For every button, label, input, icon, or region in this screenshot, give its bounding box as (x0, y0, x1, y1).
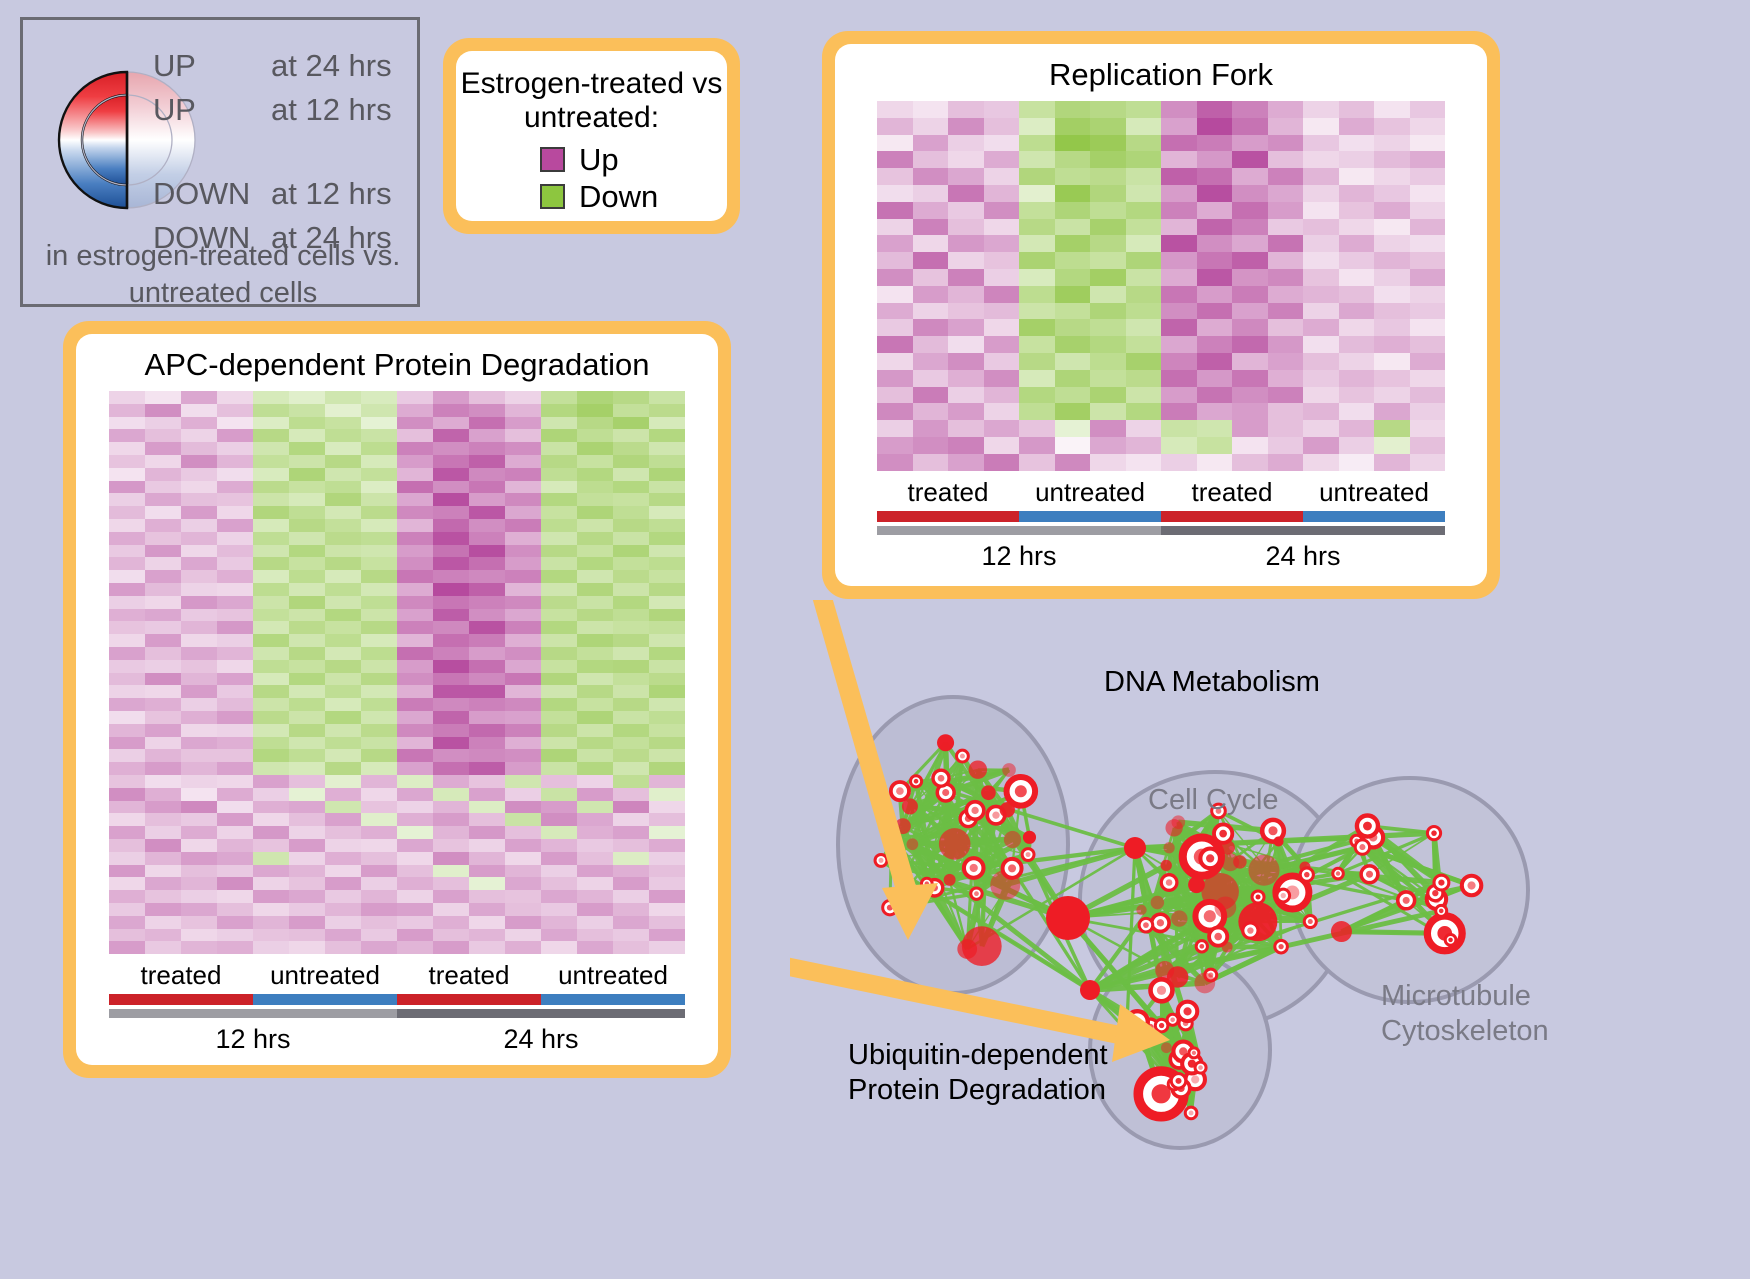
heatmap-cell (433, 865, 469, 878)
heatmap-cell (541, 890, 577, 903)
heatmap-cell (361, 468, 397, 481)
network-node[interactable] (1023, 831, 1036, 844)
heatmap-cell (1268, 286, 1304, 303)
heatmap-cell (397, 596, 433, 609)
heatmap-cell (397, 698, 433, 711)
heatmap-cell (181, 481, 217, 494)
replication-fork-heatmap (877, 101, 1445, 471)
heatmap-cell (289, 391, 325, 404)
heatmap-cell (145, 801, 181, 814)
heatmap-cell (469, 826, 505, 839)
heatmap-cell (469, 583, 505, 596)
heatmap-cell (505, 941, 541, 954)
heatmap-cell (1197, 353, 1233, 370)
network-node[interactable] (1151, 979, 1173, 1001)
heatmap-cell (433, 609, 469, 622)
heatmap-cell (361, 673, 397, 686)
heatmap-cell (1339, 235, 1375, 252)
heatmap-cell (913, 454, 949, 471)
heatmap-cell (1161, 151, 1197, 168)
heatmap-cell (1303, 437, 1339, 454)
heatmap-cell (1197, 219, 1233, 236)
heatmap-cell (109, 711, 145, 724)
heatmap-cell (361, 532, 397, 545)
heatmap-cell (1126, 286, 1162, 303)
heatmap-cell (649, 455, 685, 468)
network-node[interactable] (875, 854, 887, 866)
heatmap-cell (613, 749, 649, 762)
heatmap-cell (325, 545, 361, 558)
heatmap-cell (361, 634, 397, 647)
heatmap-cell (145, 660, 181, 673)
network-node[interactable] (1151, 896, 1164, 909)
treatment-color-bar (877, 511, 1445, 522)
heatmap-cell (253, 647, 289, 660)
heatmap-cell (505, 545, 541, 558)
heatmap-cell (469, 788, 505, 801)
heatmap-cell (577, 788, 613, 801)
heatmap-cell (289, 493, 325, 506)
heatmap-cell (181, 775, 217, 788)
heatmap-cell (397, 852, 433, 865)
heatmap-cell (1055, 353, 1091, 370)
heatmap-cell (325, 404, 361, 417)
network-node[interactable] (1300, 868, 1313, 881)
heatmap-cell (289, 455, 325, 468)
heatmap-cell (1303, 118, 1339, 135)
heatmap-cell (613, 506, 649, 519)
network-node[interactable] (1185, 1107, 1197, 1119)
heatmap-cell (1232, 319, 1268, 336)
heatmap-cell (613, 762, 649, 775)
heatmap-cell (181, 673, 217, 686)
network-node[interactable] (1333, 868, 1344, 879)
heatmap-cell (1232, 185, 1268, 202)
heatmap-cell (361, 417, 397, 430)
colorwheel-label-list: UP at 24 hrs UP at 12 hrs DOWN at 12 hrs… (153, 48, 413, 264)
group-label: untreated (541, 954, 685, 994)
heatmap-cell (469, 775, 505, 788)
heatmap-cell (1019, 118, 1055, 135)
heatmap-cell (1339, 269, 1375, 286)
heatmap-cell (505, 557, 541, 570)
heatmap-cell (649, 545, 685, 558)
heatmap-cell (1055, 101, 1091, 118)
group-label: untreated (253, 954, 397, 994)
heatmap-cell (649, 916, 685, 929)
network-node[interactable] (1136, 905, 1146, 915)
network-node[interactable] (957, 750, 969, 762)
network-node[interactable] (1004, 831, 1021, 848)
heatmap-cell (649, 660, 685, 673)
heatmap-cell (433, 698, 469, 711)
network-node[interactable] (1002, 763, 1016, 777)
heatmap-cell (145, 493, 181, 506)
time-label-row: 12 hrs 24 hrs (109, 1018, 685, 1055)
heatmap-cell (469, 455, 505, 468)
heatmap-cell (1019, 219, 1055, 236)
heatmap-cell (577, 545, 613, 558)
heatmap-cell (145, 903, 181, 916)
heatmap-cell (433, 417, 469, 430)
heatmap-cell (649, 570, 685, 583)
heatmap-cell (541, 941, 577, 954)
heatmap-cell (541, 929, 577, 942)
network-node[interactable] (1434, 875, 1449, 890)
heatmap-cell (469, 839, 505, 852)
heatmap-cell (289, 621, 325, 634)
heatmap-cell (613, 391, 649, 404)
heatmap-cell (1197, 252, 1233, 269)
heatmap-cell (877, 252, 913, 269)
network-node[interactable] (1189, 1048, 1199, 1058)
heatmap-cell (541, 839, 577, 852)
heatmap-cell (361, 775, 397, 788)
heatmap-cell (433, 724, 469, 737)
network-node[interactable] (981, 785, 996, 800)
heatmap-cell (649, 621, 685, 634)
heatmap-cell (253, 391, 289, 404)
network-node[interactable] (1152, 914, 1169, 931)
group-label-row: treated untreated treated untreated (877, 471, 1445, 511)
heatmap-cell (217, 609, 253, 622)
network-node[interactable] (1080, 980, 1100, 1000)
heatmap-cell (181, 557, 217, 570)
heatmap-cell (289, 660, 325, 673)
heatmap-cell (217, 877, 253, 890)
heatmap-cell (1339, 118, 1375, 135)
network-node[interactable] (1275, 940, 1288, 953)
heatmap-cell (433, 711, 469, 724)
heatmap-cell (541, 519, 577, 532)
heatmap-cell (577, 826, 613, 839)
network-node[interactable] (1361, 866, 1378, 883)
heatmap-cell (1232, 135, 1268, 152)
heatmap-cell (361, 916, 397, 929)
heatmap-cell (217, 762, 253, 775)
network-node[interactable] (1171, 1074, 1185, 1088)
network-node[interactable] (1161, 860, 1172, 871)
heatmap-cell (577, 391, 613, 404)
heatmap-cell (253, 916, 289, 929)
network-node[interactable] (1222, 942, 1233, 953)
heatmap-cell (469, 481, 505, 494)
heatmap-cell (325, 698, 361, 711)
network-node[interactable] (1357, 815, 1378, 836)
heatmap-cell (1126, 219, 1162, 236)
network-node[interactable] (939, 828, 971, 860)
network-node[interactable] (1221, 840, 1235, 854)
heatmap-cell (577, 609, 613, 622)
heatmap-cell (217, 685, 253, 698)
heatmap-cell (1090, 286, 1126, 303)
network-node[interactable] (1161, 1042, 1172, 1053)
network-node[interactable] (1355, 840, 1369, 854)
heatmap-cell (181, 890, 217, 903)
heatmap-cell (613, 481, 649, 494)
heatmap-cell (325, 583, 361, 596)
heatmap-cell (505, 647, 541, 660)
network-node[interactable] (1188, 876, 1205, 893)
network-node[interactable] (1427, 916, 1462, 951)
heatmap-cell (1374, 454, 1410, 471)
heatmap-cell (217, 442, 253, 455)
heatmap-cell (1268, 252, 1304, 269)
heatmap-cell (181, 442, 217, 455)
heatmap-cell (433, 519, 469, 532)
heatmap-cell (109, 570, 145, 583)
heatmap-cell (877, 319, 913, 336)
heatmap-cell (433, 493, 469, 506)
heatmap-cell (109, 916, 145, 929)
network-node[interactable] (957, 939, 977, 959)
network-node[interactable] (1124, 837, 1146, 859)
heatmap-cell (253, 557, 289, 570)
heatmap-cell (361, 493, 397, 506)
network-node[interactable] (1243, 923, 1258, 938)
network-node[interactable] (891, 782, 909, 800)
heatmap-cell (577, 647, 613, 660)
heatmap-cell (397, 813, 433, 826)
heatmap-cell (217, 903, 253, 916)
network-node[interactable] (1139, 918, 1153, 932)
heatmap-cell (325, 826, 361, 839)
heatmap-cell (1126, 168, 1162, 185)
heatmap-cell (1197, 269, 1233, 286)
heatmap-cell (577, 468, 613, 481)
heatmap-cell (145, 545, 181, 558)
heatmap-cell (217, 801, 253, 814)
network-node[interactable] (1161, 875, 1177, 891)
heatmap-cell (1055, 286, 1091, 303)
network-node[interactable] (1200, 849, 1220, 869)
group-label: treated (109, 954, 253, 994)
heatmap-cell (984, 185, 1020, 202)
heatmap-cell (181, 839, 217, 852)
network-node[interactable] (1273, 836, 1283, 846)
heatmap-cell (253, 762, 289, 775)
network-node[interactable] (1445, 934, 1456, 945)
heatmap-cell (1232, 303, 1268, 320)
heatmap-cell (505, 570, 541, 583)
heatmap-cell (613, 493, 649, 506)
network-node[interactable] (1195, 1062, 1206, 1073)
heatmap-cell (1019, 269, 1055, 286)
heatmap-cell (984, 319, 1020, 336)
heatmap-cell (984, 151, 1020, 168)
heatmap-cell (361, 583, 397, 596)
network-node[interactable] (910, 776, 921, 787)
heatmap-cell (145, 442, 181, 455)
heatmap-cell (253, 455, 289, 468)
heatmap-cell (1303, 151, 1339, 168)
heatmap-cell (1374, 168, 1410, 185)
heatmap-cell (145, 570, 181, 583)
heatmap-cell (145, 929, 181, 942)
network-node[interactable] (944, 874, 956, 886)
heatmap-cell (541, 634, 577, 647)
heatmap-cell (109, 737, 145, 750)
network-node[interactable] (937, 734, 954, 751)
heatmap-cell (1339, 353, 1375, 370)
heatmap-cell (109, 788, 145, 801)
heatmap-cell (649, 698, 685, 711)
network-node[interactable] (1003, 859, 1022, 878)
heatmap-cell (289, 941, 325, 954)
heatmap-cell (649, 481, 685, 494)
heatmap-cell (505, 468, 541, 481)
heatmap-cell (577, 557, 613, 570)
heatmap-cell (289, 890, 325, 903)
network-node[interactable] (1164, 842, 1175, 853)
heatmap-cell (1090, 118, 1126, 135)
heatmap-cell (289, 506, 325, 519)
network-node[interactable] (1196, 941, 1207, 952)
heatmap-cell (948, 319, 984, 336)
network-node[interactable] (1171, 910, 1187, 926)
heatmap-cell (613, 890, 649, 903)
network-node[interactable] (1022, 849, 1034, 861)
heatmap-cell (1268, 101, 1304, 118)
heatmap-cell (613, 429, 649, 442)
heatmap-cell (505, 698, 541, 711)
network-node[interactable] (1194, 973, 1215, 994)
heatmap-cell (469, 634, 505, 647)
heatmap-cell (289, 711, 325, 724)
network-node[interactable] (1462, 876, 1481, 895)
heatmap-cell (145, 647, 181, 660)
network-node[interactable] (1007, 777, 1036, 806)
heatmap-cell (217, 749, 253, 762)
heatmap-cell (1268, 202, 1304, 219)
heatmap-cell (1161, 252, 1197, 269)
heatmap-cell (1339, 135, 1375, 152)
heatmap-cell (325, 596, 361, 609)
network-node[interactable] (1398, 892, 1415, 909)
network-node[interactable] (1221, 853, 1239, 871)
heatmap-cell (145, 724, 181, 737)
heatmap-cell (289, 596, 325, 609)
network-node[interactable] (1155, 961, 1174, 980)
heatmap-cell (1197, 454, 1233, 471)
heatmap-cell (1232, 336, 1268, 353)
network-node[interactable] (966, 802, 983, 819)
heatmap-cell (948, 269, 984, 286)
heatmap-cell (577, 903, 613, 916)
heatmap-cell (1161, 420, 1197, 437)
heatmap-cell (1303, 219, 1339, 236)
heatmap-cell (433, 801, 469, 814)
heatmap-cell (1339, 454, 1375, 471)
heatmap-cell (433, 826, 469, 839)
heatmap-cell (1126, 303, 1162, 320)
heatmap-cell (948, 387, 984, 404)
heatmap-cell (325, 493, 361, 506)
heatmap-cell (181, 813, 217, 826)
network-node[interactable] (1155, 1019, 1168, 1032)
heatmap-cell (1197, 319, 1233, 336)
network-node[interactable] (1277, 889, 1290, 902)
heatmap-cell (433, 468, 469, 481)
heatmap-cell (1410, 437, 1446, 454)
heatmap-cell (913, 269, 949, 286)
heatmap-cell (289, 916, 325, 929)
network-node[interactable] (969, 760, 987, 778)
network-node[interactable] (1427, 827, 1440, 840)
network-node[interactable] (971, 888, 982, 899)
heatmap-cell (541, 724, 577, 737)
heatmap-cell (109, 417, 145, 430)
colorwheel-legend-box: UP at 24 hrs UP at 12 hrs DOWN at 12 hrs… (20, 17, 420, 307)
heatmap-cell (913, 370, 949, 387)
heatmap-cell (469, 519, 505, 532)
network-node[interactable] (1046, 896, 1090, 940)
network-node[interactable] (1214, 824, 1232, 842)
network-node[interactable] (1304, 915, 1316, 927)
network-node[interactable] (1215, 896, 1237, 918)
heatmap-cell (109, 724, 145, 737)
heatmap-cell (145, 916, 181, 929)
heatmap-cell (289, 903, 325, 916)
network-node[interactable] (1000, 802, 1015, 817)
heatmap-cell (181, 404, 217, 417)
heatmap-cell (541, 788, 577, 801)
heatmap-cell (109, 532, 145, 545)
heatmap-cell (253, 570, 289, 583)
heatmap-cell (1197, 135, 1233, 152)
heatmap-cell (1197, 336, 1233, 353)
heatmap-cell (577, 404, 613, 417)
heatmap-cell (1303, 235, 1339, 252)
heatmap-cell (505, 442, 541, 455)
heatmap-cell (1019, 387, 1055, 404)
network-node[interactable] (964, 858, 984, 878)
heatmap-cell (289, 570, 325, 583)
heatmap-cell (984, 387, 1020, 404)
heatmap-cell (1019, 101, 1055, 118)
heatmap-cell (181, 621, 217, 634)
heatmap-cell (984, 286, 1020, 303)
heatmap-cell (505, 813, 541, 826)
heatmap-cell (361, 557, 397, 570)
network-node[interactable] (1436, 905, 1447, 916)
network-node[interactable] (1331, 921, 1352, 942)
network-node[interactable] (1248, 855, 1279, 886)
heatmap-cell (577, 698, 613, 711)
heatmap-cell (1410, 387, 1446, 404)
heatmap-cell (289, 685, 325, 698)
heatmap-cell (1161, 454, 1197, 471)
bar-treated (397, 994, 541, 1005)
heatmap-cell (253, 929, 289, 942)
heatmap-cell (984, 420, 1020, 437)
heatmap-cell (361, 813, 397, 826)
heatmap-cell (1303, 286, 1339, 303)
heatmap-cell (1374, 353, 1410, 370)
network-node[interactable] (933, 770, 949, 786)
network-node[interactable] (907, 838, 919, 850)
up-color-swatch (540, 147, 565, 172)
heatmap-cell (469, 417, 505, 430)
heatmap-cell (1374, 185, 1410, 202)
network-node[interactable] (1252, 891, 1264, 903)
network-node[interactable] (1178, 1002, 1197, 1021)
heatmap-cell (433, 621, 469, 634)
heatmap-cell (577, 583, 613, 596)
network-node[interactable] (1165, 819, 1182, 836)
heatmap-cell (397, 685, 433, 698)
heatmap-cell (217, 775, 253, 788)
